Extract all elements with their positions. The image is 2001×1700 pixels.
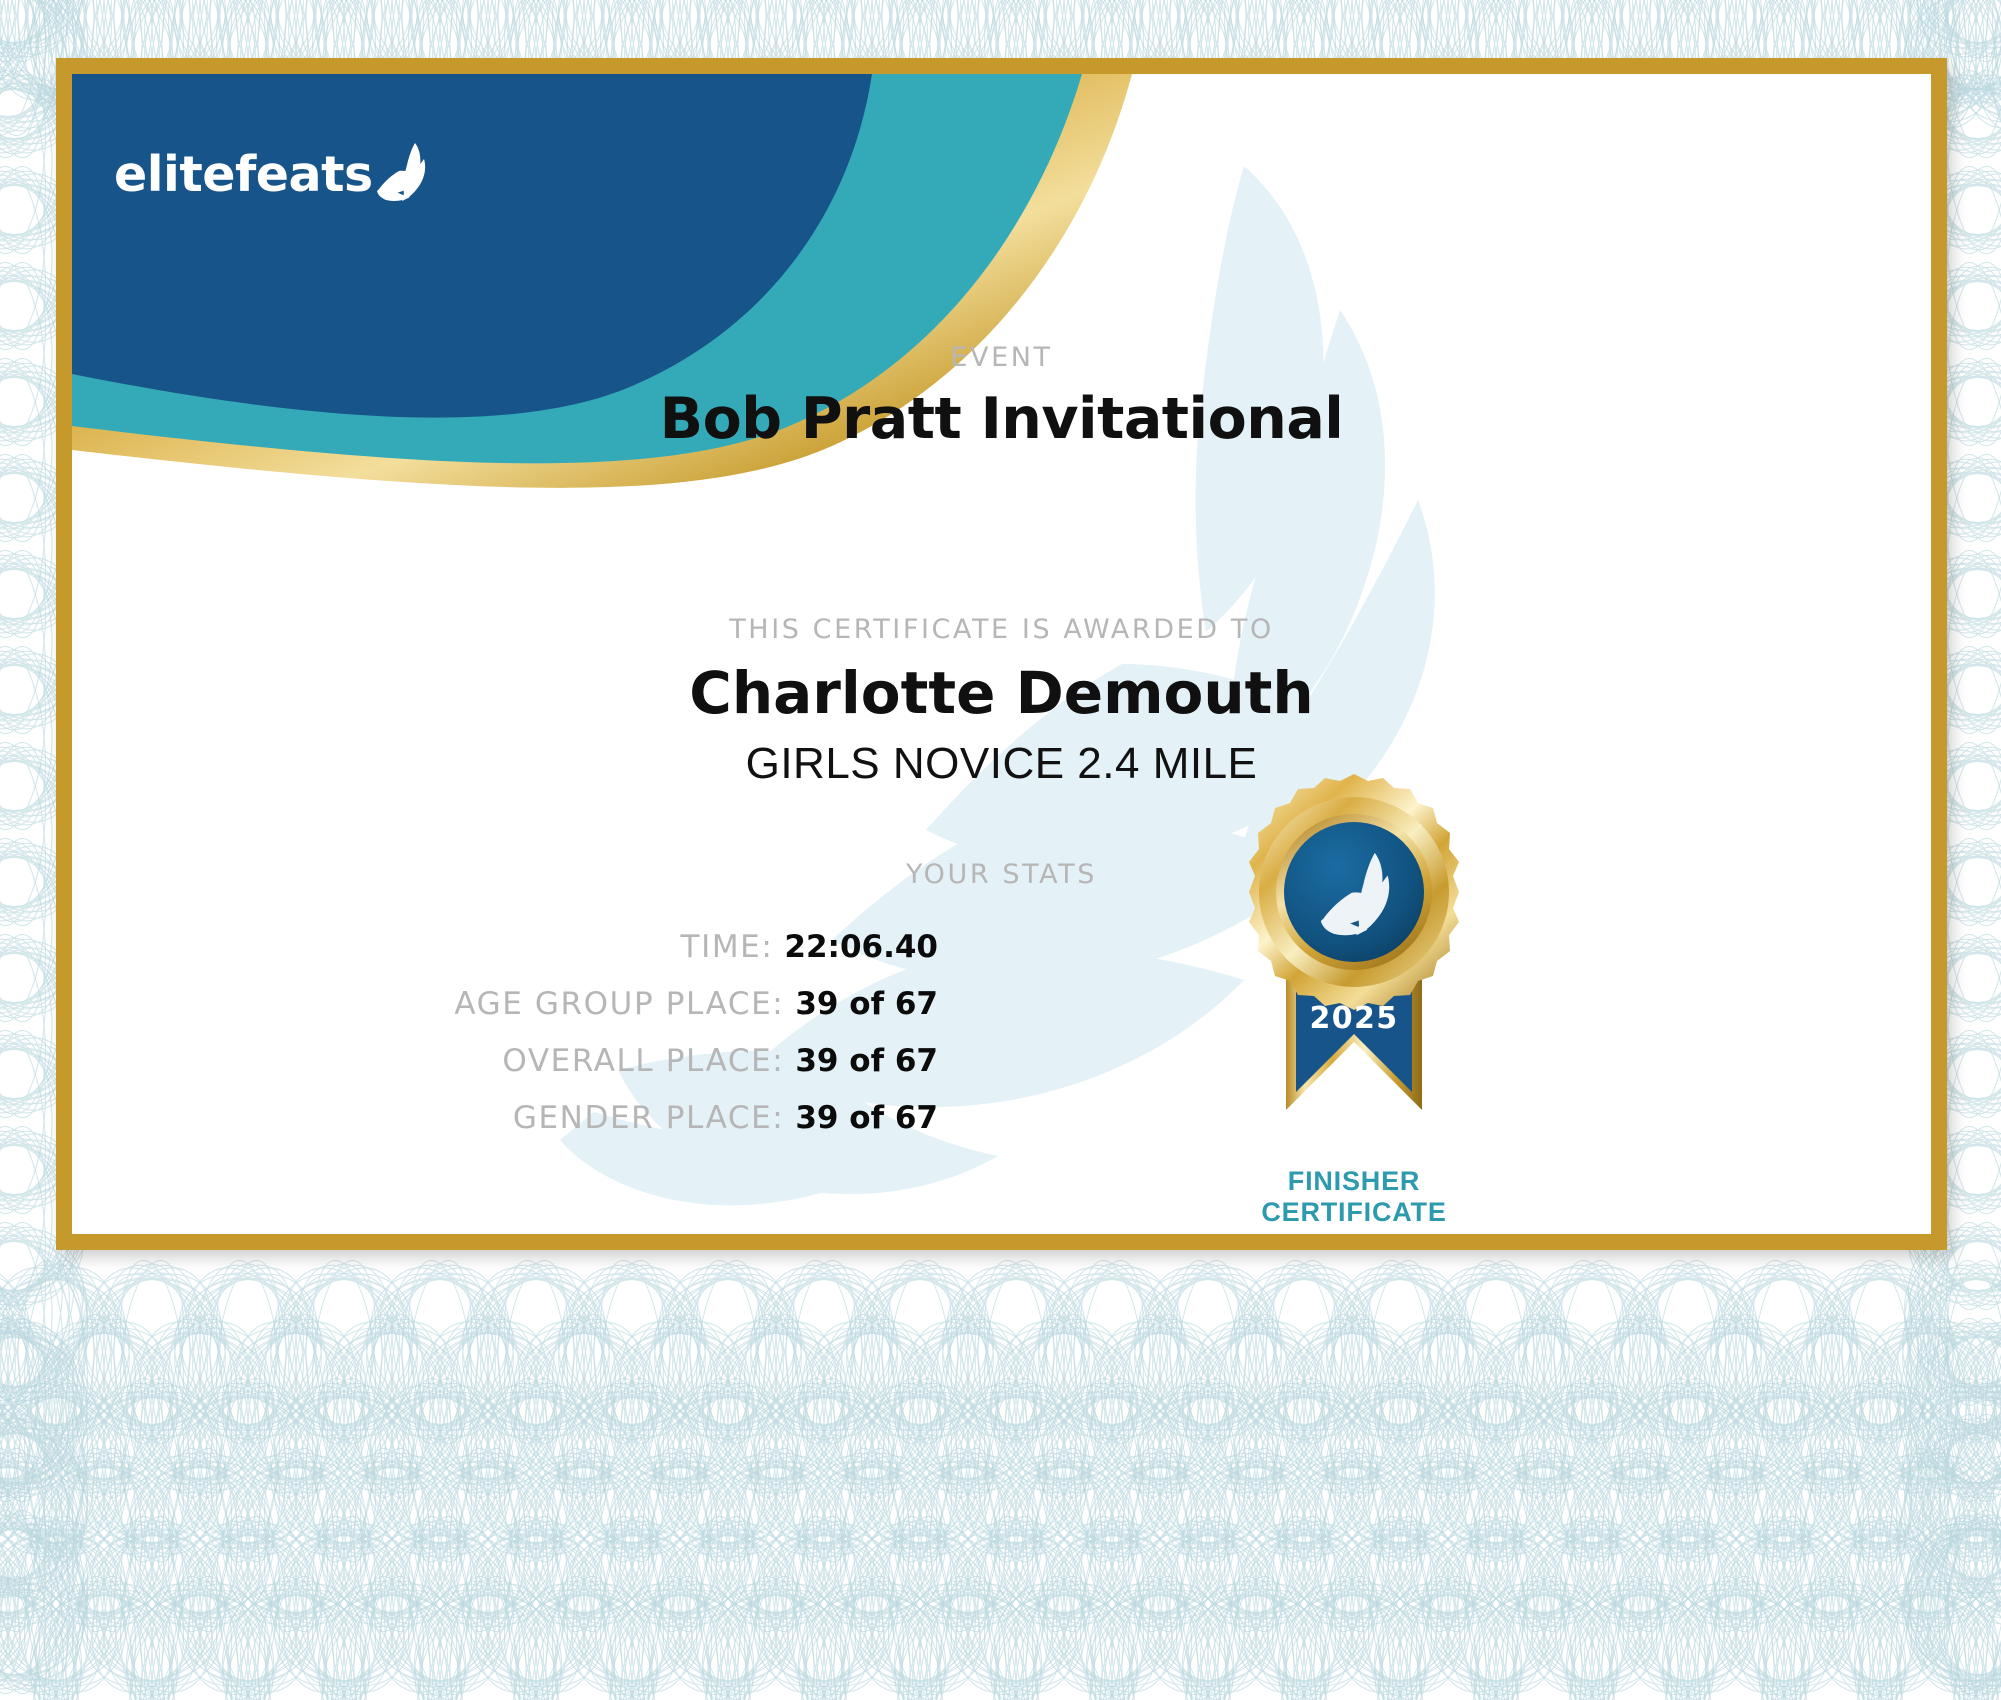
medal-caption-line1: FINISHER (1204, 1166, 1504, 1197)
medal-year: 2025 (1309, 1001, 1398, 1036)
awarded-to-label: THIS CERTIFICATE IS AWARDED TO (72, 614, 1931, 645)
certificate-content: EVENT Bob Pratt Invitational THIS CERTIF… (72, 74, 1931, 1234)
stat-row-gender-place: GENDER PLACE: 39 of 67 (72, 1100, 938, 1136)
stats-list: TIME: 22:06.40 AGE GROUP PLACE: 39 of 67… (72, 929, 938, 1136)
certificate-gold-frame: elitefeats EVENT Bob Pratt Invitati (56, 58, 1947, 1250)
certificate-body: elitefeats EVENT Bob Pratt Invitati (72, 74, 1931, 1234)
stat-label: AGE GROUP PLACE: (454, 986, 784, 1022)
stat-value: 39 of 67 (795, 986, 938, 1022)
event-name: Bob Pratt Invitational (72, 386, 1931, 452)
medal-caption: FINISHER CERTIFICATE (1204, 1166, 1504, 1228)
stat-label: TIME: (681, 929, 774, 965)
stat-value: 39 of 67 (795, 1100, 938, 1136)
finisher-medal-block: 2025 FINISHER CERTIFICATE (1204, 774, 1504, 1228)
recipient-name: Charlotte Demouth (72, 659, 1931, 727)
finisher-medal-icon: 2025 (1204, 774, 1504, 1164)
stat-row-time: TIME: 22:06.40 (72, 929, 938, 965)
stat-row-age-group-place: AGE GROUP PLACE: 39 of 67 (72, 986, 938, 1022)
medal-caption-line2: CERTIFICATE (1204, 1197, 1504, 1228)
stat-value: 39 of 67 (795, 1043, 938, 1079)
stat-label: OVERALL PLACE: (502, 1043, 784, 1079)
race-category: GIRLS NOVICE 2.4 MILE (72, 739, 1931, 789)
stat-row-overall-place: OVERALL PLACE: 39 of 67 (72, 1043, 938, 1079)
stat-value: 22:06.40 (784, 929, 938, 965)
your-stats-label: YOUR STATS (72, 859, 1931, 890)
certificate-page: elitefeats EVENT Bob Pratt Invitati (0, 0, 2001, 1700)
event-label: EVENT (72, 342, 1931, 373)
stat-label: GENDER PLACE: (513, 1100, 784, 1136)
